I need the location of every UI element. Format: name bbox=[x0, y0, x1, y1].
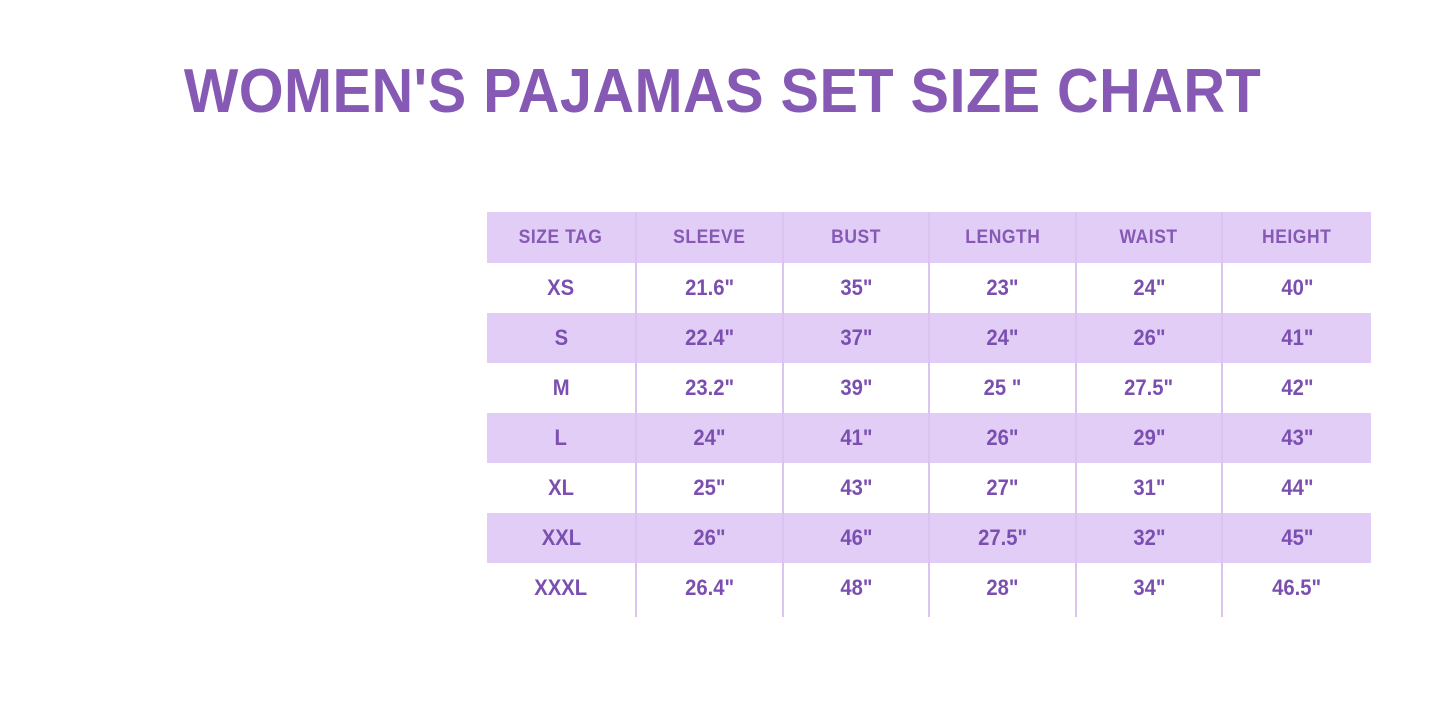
cell-size-tag: XXXL bbox=[487, 563, 636, 613]
cell-sleeve: 22.4" bbox=[636, 313, 783, 363]
table-row: XL 25" 43" 27" 31" 44" bbox=[487, 463, 1371, 513]
cell-bust: 48" bbox=[783, 563, 929, 613]
column-divider-2 bbox=[782, 565, 784, 617]
cell-sleeve: 26.4" bbox=[636, 563, 783, 613]
table-row: XXL 26" 46" 27.5" 32" 45" bbox=[487, 513, 1371, 563]
column-header-size-tag-label: SIZE TAG bbox=[519, 227, 603, 249]
column-header-sleeve-label: SLEEVE bbox=[673, 227, 745, 249]
cell-size-tag: S bbox=[487, 313, 636, 363]
cell-bust: 46" bbox=[783, 513, 929, 563]
cell-waist: 31" bbox=[1076, 463, 1222, 513]
cell-waist: 26" bbox=[1076, 313, 1222, 363]
cell-height: 45" bbox=[1222, 513, 1371, 563]
table-header-row: SIZE TAG SLEEVE BUST LENGTH WAIST HEIGHT bbox=[487, 212, 1371, 263]
cell-sleeve: 25" bbox=[636, 463, 783, 513]
cell-bust: 41" bbox=[783, 413, 929, 463]
cell-bust: 37" bbox=[783, 313, 929, 363]
column-header-sleeve: SLEEVE bbox=[636, 212, 783, 263]
cell-size-tag: XS bbox=[487, 263, 636, 313]
cell-bust: 43" bbox=[783, 463, 929, 513]
cell-length: 24" bbox=[929, 313, 1076, 363]
cell-height: 43" bbox=[1222, 413, 1371, 463]
cell-length: 28" bbox=[929, 563, 1076, 613]
column-divider-5 bbox=[1221, 565, 1223, 617]
table-row: M 23.2" 39" 25 " 27.5" 42" bbox=[487, 363, 1371, 413]
column-header-size-tag: SIZE TAG bbox=[487, 212, 636, 263]
table-row: XS 21.6" 35" 23" 24" 40" bbox=[487, 263, 1371, 313]
page-title: WOMEN'S PAJAMAS SET SIZE CHART bbox=[51, 56, 1395, 128]
table-body: XS 21.6" 35" 23" 24" 40" S 22.4" 37" 24"… bbox=[487, 263, 1371, 613]
table-header: SIZE TAG SLEEVE BUST LENGTH WAIST HEIGHT bbox=[487, 212, 1371, 263]
cell-waist: 34" bbox=[1076, 563, 1222, 613]
column-header-height: HEIGHT bbox=[1222, 212, 1371, 263]
column-header-waist-label: WAIST bbox=[1120, 227, 1178, 249]
column-header-waist: WAIST bbox=[1076, 212, 1222, 263]
cell-height: 44" bbox=[1222, 463, 1371, 513]
table-row: L 24" 41" 26" 29" 43" bbox=[487, 413, 1371, 463]
cell-waist: 27.5" bbox=[1076, 363, 1222, 413]
column-header-length: LENGTH bbox=[929, 212, 1076, 263]
cell-height: 42" bbox=[1222, 363, 1371, 413]
cell-waist: 32" bbox=[1076, 513, 1222, 563]
cell-bust: 39" bbox=[783, 363, 929, 413]
cell-length: 27.5" bbox=[929, 513, 1076, 563]
column-divider-1 bbox=[635, 565, 637, 617]
table-row: S 22.4" 37" 24" 26" 41" bbox=[487, 313, 1371, 363]
column-header-bust: BUST bbox=[783, 212, 929, 263]
cell-sleeve: 26" bbox=[636, 513, 783, 563]
cell-sleeve: 21.6" bbox=[636, 263, 783, 313]
column-divider-3 bbox=[928, 565, 930, 617]
cell-length: 25 " bbox=[929, 363, 1076, 413]
cell-size-tag: XL bbox=[487, 463, 636, 513]
size-chart-table-container: SIZE TAG SLEEVE BUST LENGTH WAIST HEIGHT… bbox=[487, 212, 1371, 613]
cell-length: 27" bbox=[929, 463, 1076, 513]
column-header-height-label: HEIGHT bbox=[1262, 227, 1331, 249]
cell-height: 46.5" bbox=[1222, 563, 1371, 613]
cell-height: 40" bbox=[1222, 263, 1371, 313]
cell-height: 41" bbox=[1222, 313, 1371, 363]
column-divider-4 bbox=[1075, 565, 1077, 617]
column-header-length-label: LENGTH bbox=[965, 227, 1040, 249]
cell-sleeve: 23.2" bbox=[636, 363, 783, 413]
cell-bust: 35" bbox=[783, 263, 929, 313]
size-chart-table: SIZE TAG SLEEVE BUST LENGTH WAIST HEIGHT… bbox=[487, 212, 1371, 613]
cell-length: 26" bbox=[929, 413, 1076, 463]
cell-waist: 29" bbox=[1076, 413, 1222, 463]
size-chart-page: WOMEN'S PAJAMAS SET SIZE CHART SIZE TAG … bbox=[0, 0, 1445, 723]
cell-sleeve: 24" bbox=[636, 413, 783, 463]
cell-waist: 24" bbox=[1076, 263, 1222, 313]
column-header-bust-label: BUST bbox=[831, 227, 881, 249]
cell-length: 23" bbox=[929, 263, 1076, 313]
cell-size-tag: M bbox=[487, 363, 636, 413]
cell-size-tag: L bbox=[487, 413, 636, 463]
cell-size-tag: XXL bbox=[487, 513, 636, 563]
